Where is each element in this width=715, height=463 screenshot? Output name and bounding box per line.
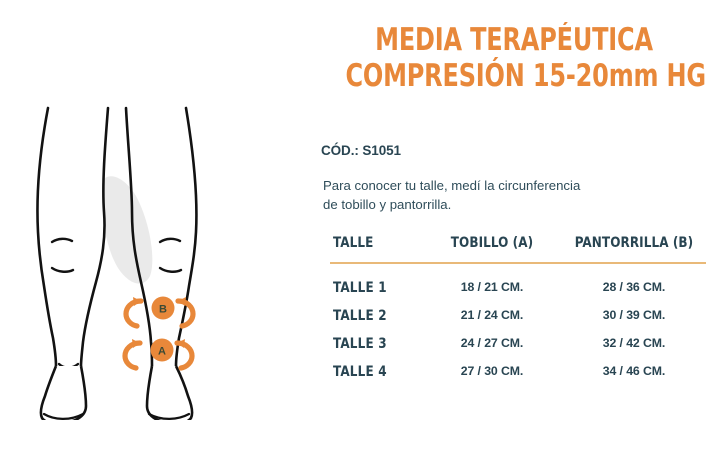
cell-pantorrilla: 34 / 46 CM.	[558, 364, 710, 378]
left-leg-inner-outline	[81, 108, 108, 366]
ankle-marker: A	[125, 339, 192, 369]
size-table-body: TALLE 1 18 / 21 CM. 28 / 36 CM. TALLE 2 …	[318, 280, 710, 392]
table-row: TALLE 1 18 / 21 CM. 28 / 36 CM.	[318, 280, 710, 308]
cell-pantorrilla: 32 / 42 CM.	[558, 336, 710, 350]
cell-tobillo: 24 / 27 CM.	[410, 336, 574, 350]
table-row: TALLE 3 24 / 27 CM. 32 / 42 CM.	[318, 336, 710, 364]
right-knee-dash-lower	[160, 268, 181, 272]
right-foot-outline	[147, 366, 192, 420]
column-header-talle: TALLE	[333, 235, 373, 251]
ankle-marker-label: A	[158, 346, 166, 358]
calf-marker-arrow-left	[126, 301, 141, 326]
product-code-value: S1051	[362, 143, 401, 158]
cell-talle: TALLE 3	[333, 336, 387, 352]
table-row: TALLE 4 27 / 30 CM. 34 / 46 CM.	[318, 364, 710, 392]
header-divider	[330, 262, 706, 264]
cell-talle: TALLE 1	[333, 280, 387, 296]
size-table: TALLE TOBILLO (A) PANTORRILLA (B) TALLE …	[318, 235, 710, 259]
page-title: MEDIA TERAPÉUTICA COMPRESIÓN 15-20mm HG	[345, 22, 682, 94]
calf-marker-arrow-right	[178, 301, 193, 326]
inner-thigh-shadow	[103, 176, 152, 283]
column-header-pantorrilla: PANTORRILLA (B)	[564, 235, 704, 251]
ankle-marker-arrow-right	[177, 343, 192, 368]
size-guide-page: B A MEDIA TERAPÉUTICA COMPRESIÓN 15-20mm…	[0, 0, 715, 463]
cell-talle: TALLE 4	[333, 364, 387, 380]
product-code-label: CÓD.:	[321, 143, 359, 158]
left-foot-outline	[41, 366, 86, 420]
ankle-marker-arrow-left-head	[132, 339, 140, 348]
cell-tobillo: 18 / 21 CM.	[410, 280, 574, 294]
column-header-tobillo: TOBILLO (A)	[417, 235, 568, 251]
product-code: CÓD.: S1051	[321, 143, 401, 158]
ankle-marker-arrow-left	[125, 343, 140, 368]
page-title-line-2: COMPRESIÓN 15-20mm HG	[345, 58, 682, 94]
measuring-instructions-line-1: Para conocer tu talle, medí la circunfer…	[323, 177, 580, 196]
size-table-header-row: TALLE TOBILLO (A) PANTORRILLA (B)	[318, 235, 710, 259]
calf-marker-arrow-right-head	[178, 297, 186, 306]
table-row: TALLE 2 21 / 24 CM. 30 / 39 CM.	[318, 308, 710, 336]
measuring-instructions: Para conocer tu talle, medí la circunfer…	[323, 177, 580, 214]
cell-tobillo: 21 / 24 CM.	[410, 308, 574, 322]
left-knee-dash-lower	[52, 268, 73, 272]
cell-pantorrilla: 28 / 36 CM.	[558, 280, 710, 294]
right-knee-dash-upper	[160, 239, 180, 242]
page-title-line-1: MEDIA TERAPÉUTICA	[375, 22, 653, 58]
measuring-instructions-line-2: de tobillo y pantorrilla.	[323, 196, 580, 215]
cell-talle: TALLE 2	[333, 308, 387, 324]
legs-illustration: B A	[0, 100, 300, 420]
cell-tobillo: 27 / 30 CM.	[410, 364, 574, 378]
cell-pantorrilla: 30 / 39 CM.	[558, 308, 710, 322]
calf-marker-label: B	[159, 304, 167, 316]
calf-marker-arrow-left-head	[133, 297, 141, 306]
left-leg-outer-outline	[37, 108, 56, 366]
left-knee-dash-upper	[52, 239, 72, 242]
product-info-panel: MEDIA TERAPÉUTICA COMPRESIÓN 15-20mm HG …	[318, 0, 715, 463]
